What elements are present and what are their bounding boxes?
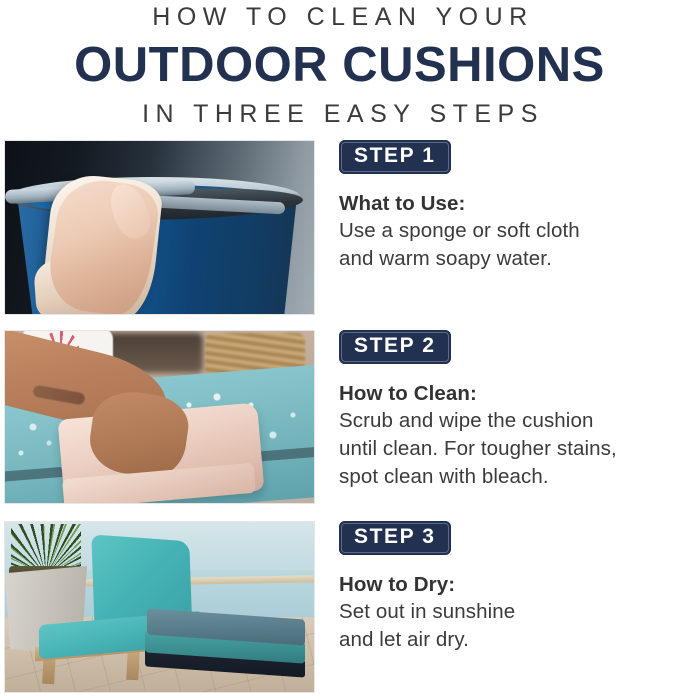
step-3-heading: How to Dry: bbox=[339, 572, 675, 598]
step-1-body-line-2: and warm soapy water. bbox=[339, 245, 675, 273]
step-3-body: Set out in sunshine and let air dry. bbox=[339, 598, 675, 654]
step-1-photo bbox=[4, 140, 315, 315]
step-2-body: Scrub and wipe the cushion until clean. … bbox=[339, 407, 675, 491]
step-2-body-line-1: Scrub and wipe the cushion bbox=[339, 407, 675, 435]
page-title: OUTDOOR CUSHIONS bbox=[0, 36, 679, 94]
step-1-heading: What to Use: bbox=[339, 191, 675, 217]
step-2-heading: How to Clean: bbox=[339, 381, 675, 407]
step-row-1: STEP 1 What to Use: Use a sponge or soft… bbox=[0, 140, 679, 315]
bucket-scene bbox=[5, 141, 314, 314]
step-3-badge: STEP 3 bbox=[339, 521, 451, 555]
wiping-scene bbox=[5, 331, 314, 503]
step-2-text: STEP 2 How to Clean: Scrub and wipe the … bbox=[339, 330, 675, 491]
step-3-body-line-1: Set out in sunshine bbox=[339, 598, 675, 626]
header: HOW TO CLEAN YOUR OUTDOOR CUSHIONS IN TH… bbox=[0, 0, 679, 130]
lounge-scene bbox=[5, 522, 314, 692]
step-3-body-line-2: and let air dry. bbox=[339, 626, 675, 654]
step-row-2: STEP 2 How to Clean: Scrub and wipe the … bbox=[0, 330, 679, 504]
chaise-leg-mid-shape bbox=[126, 650, 140, 681]
step-2-body-line-2: until clean. For tougher stains, bbox=[339, 435, 675, 463]
step-1-body: Use a sponge or soft cloth and warm soap… bbox=[339, 217, 675, 273]
step-2-body-line-3: spot clean with bleach. bbox=[339, 463, 675, 491]
step-3-photo bbox=[4, 521, 315, 693]
header-subkicker: IN THREE EASY STEPS bbox=[0, 98, 679, 130]
header-kicker: HOW TO CLEAN YOUR bbox=[0, 2, 679, 32]
step-1-text: STEP 1 What to Use: Use a sponge or soft… bbox=[339, 140, 675, 273]
step-row-3: STEP 3 How to Dry: Set out in sunshine a… bbox=[0, 521, 679, 693]
step-3-text: STEP 3 How to Dry: Set out in sunshine a… bbox=[339, 521, 675, 654]
step-2-photo bbox=[4, 330, 315, 504]
step-1-badge: STEP 1 bbox=[339, 140, 451, 174]
step-2-badge: STEP 2 bbox=[339, 330, 451, 364]
infographic-page: HOW TO CLEAN YOUR OUTDOOR CUSHIONS IN TH… bbox=[0, 0, 679, 699]
step-1-body-line-1: Use a sponge or soft cloth bbox=[339, 217, 675, 245]
